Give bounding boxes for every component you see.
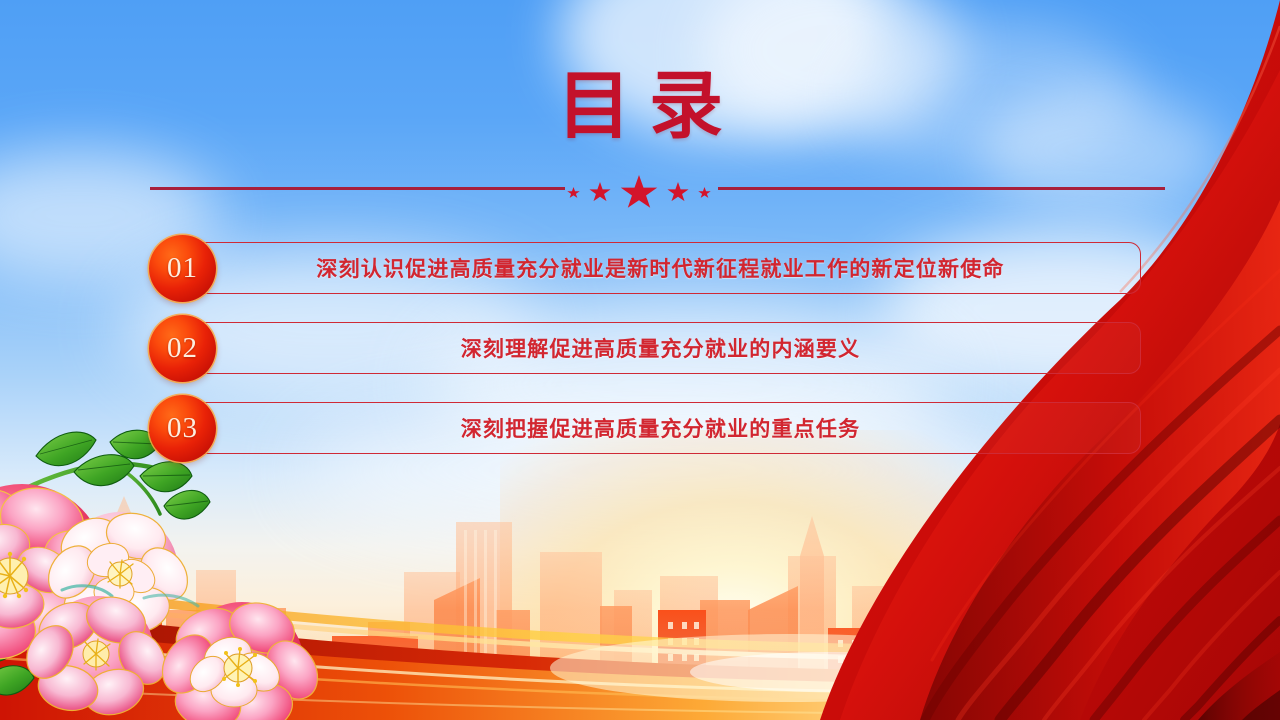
toc-item-label: 深刻把握促进高质量充分就业的重点任务 [186,402,1141,454]
toc-item-badge: 03 [149,395,216,462]
presentation-slide: 目录 深刻认识促进高质量充分就业是新时代新征程就业工作的新定位新使命 01 深刻… [0,0,1280,720]
toc-item-badge: 01 [149,235,216,302]
toc-list: 深刻认识促进高质量充分就业是新时代新征程就业工作的新定位新使命 01 深刻理解促… [0,0,1280,720]
toc-item-number: 03 [167,414,198,443]
toc-item-number: 01 [167,254,198,283]
toc-item-label: 深刻理解促进高质量充分就业的内涵要义 [186,322,1141,374]
toc-item-01[interactable]: 深刻认识促进高质量充分就业是新时代新征程就业工作的新定位新使命 01 [186,242,1141,294]
toc-item-02[interactable]: 深刻理解促进高质量充分就业的内涵要义 02 [186,322,1141,374]
toc-item-label: 深刻认识促进高质量充分就业是新时代新征程就业工作的新定位新使命 [186,242,1141,294]
toc-item-03[interactable]: 深刻把握促进高质量充分就业的重点任务 03 [186,402,1141,454]
toc-item-badge: 02 [149,315,216,382]
toc-item-number: 02 [167,334,198,363]
